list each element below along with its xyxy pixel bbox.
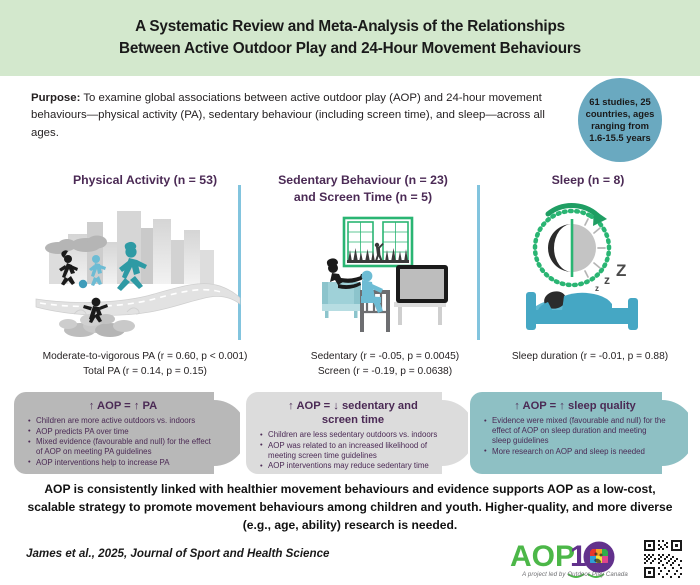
zzz-icon: Z z z [595,261,626,293]
column-heading-sedentary-line-1: Sedentary Behaviour (n = 23) [248,172,478,189]
callout-bullet: AOP interventions may reduce sedentary t… [260,461,446,471]
stat-line: Moderate-to-vigorous PA (r = 0.60, p < 0… [0,350,290,365]
callout-bullet: AOP was related to an increased likeliho… [260,441,446,461]
column-heading-physical-activity: Physical Activity (n = 53) [30,172,260,189]
seated-person-figure [361,271,383,313]
logo-aop-text: AOP [510,540,575,573]
column-divider-right [477,185,480,340]
moon-sun-icon [548,219,605,277]
callout-content: ↑ AOP = ↓ sedentary and screen time Chil… [260,399,446,471]
callout-title: ↑ AOP = ↑ PA [28,399,218,413]
tv-stand-icon [394,302,446,325]
callout-bullet-list: Children are more active outdoors vs. in… [28,416,218,468]
stats-sedentary: Sedentary (r = -0.05, p = 0.0045) Screen… [270,350,500,380]
callout-title: ↑ AOP = ↑ sleep quality [484,399,666,413]
callout-title: ↑ AOP = ↓ sedentary and screen time [260,399,446,427]
soccer-ball-icon [79,280,87,288]
callout-sedentary: ↑ AOP = ↓ sedentary and screen time Chil… [246,392,468,474]
callout-bullet-list: Children are less sedentary outdoors vs.… [260,430,446,471]
logo-globe-icon [586,544,612,570]
citation-text: James et al., 2025, Journal of Sport and… [26,547,329,560]
callout-bullet-list: Evidence were mixed (favourable and null… [484,416,666,457]
stats-sleep: Sleep duration (r = -0.01, p = 0.88) [480,350,700,365]
svg-text:z: z [604,273,610,287]
callout-sleep: ↑ AOP = ↑ sleep quality Evidence were mi… [470,392,688,474]
callout-physical-activity: ↑ AOP = ↑ PA Children are more active ou… [14,392,240,474]
callout-bullet: Children are less sedentary outdoors vs.… [260,430,446,440]
sleeping-person-figure [538,289,612,311]
window-icon [344,218,412,266]
page-title-line-2: Between Active Outdoor Play and 24-Hour … [119,38,581,60]
callout-content: ↑ AOP = ↑ PA Children are more active ou… [28,399,218,468]
callout-bullet: Mixed evidence (favourable and null) for… [28,437,218,457]
svg-text:Z: Z [616,261,626,280]
physical-activity-illustration [34,208,250,340]
callout-title-line-1: ↑ AOP = ↓ sedentary and [260,399,446,413]
stat-line: Sleep duration (r = -0.01, p = 0.88) [480,350,700,365]
callout-bullet: Evidence were mixed (favourable and null… [484,416,666,446]
column-heading-sedentary: Sedentary Behaviour (n = 23) and Screen … [248,172,478,205]
television-icon [396,265,448,303]
page-title-line-1: A Systematic Review and Meta-Analysis of… [135,16,565,38]
callout-bullet: AOP predicts PA over time [28,427,218,437]
sleep-illustration: Z z z [508,202,668,344]
header-band: A Systematic Review and Meta-Analysis of… [0,0,700,76]
logo-tagline: A project led by Outdoor Play Canada [512,571,638,578]
callout-title-line-2: screen time [260,413,446,427]
callout-bullet: AOP interventions help to increase PA [28,458,218,468]
studies-summary-badge: 61 studies, 25 countries, ages ranging f… [578,78,662,162]
purpose-statement: Purpose: To examine global associations … [31,90,571,142]
callout-bullet: More research on AOP and sleep is needed [484,447,666,457]
stat-line: Total PA (r = 0.14, p = 0.15) [0,365,290,380]
purpose-label: Purpose: [31,92,80,104]
conclusion-text: AOP is consistently linked with healthie… [22,481,678,535]
qr-code[interactable] [642,538,684,580]
svg-text:z: z [595,284,599,293]
callout-bullet: Children are more active outdoors vs. in… [28,416,218,426]
stat-line: Sedentary (r = -0.05, p = 0.0045) [270,350,500,365]
callout-content: ↑ AOP = ↑ sleep quality Evidence were mi… [484,399,666,457]
column-heading-sedentary-line-2: and Screen Time (n = 5) [248,189,478,206]
stat-line: Screen (r = -0.19, p = 0.0638) [270,365,500,380]
purpose-text: To examine global associations between a… [31,92,545,139]
stats-physical-activity: Moderate-to-vigorous PA (r = 0.60, p < 0… [0,350,290,380]
column-heading-sleep: Sleep (n = 8) [488,172,688,189]
sedentary-behaviour-illustration [288,208,468,340]
